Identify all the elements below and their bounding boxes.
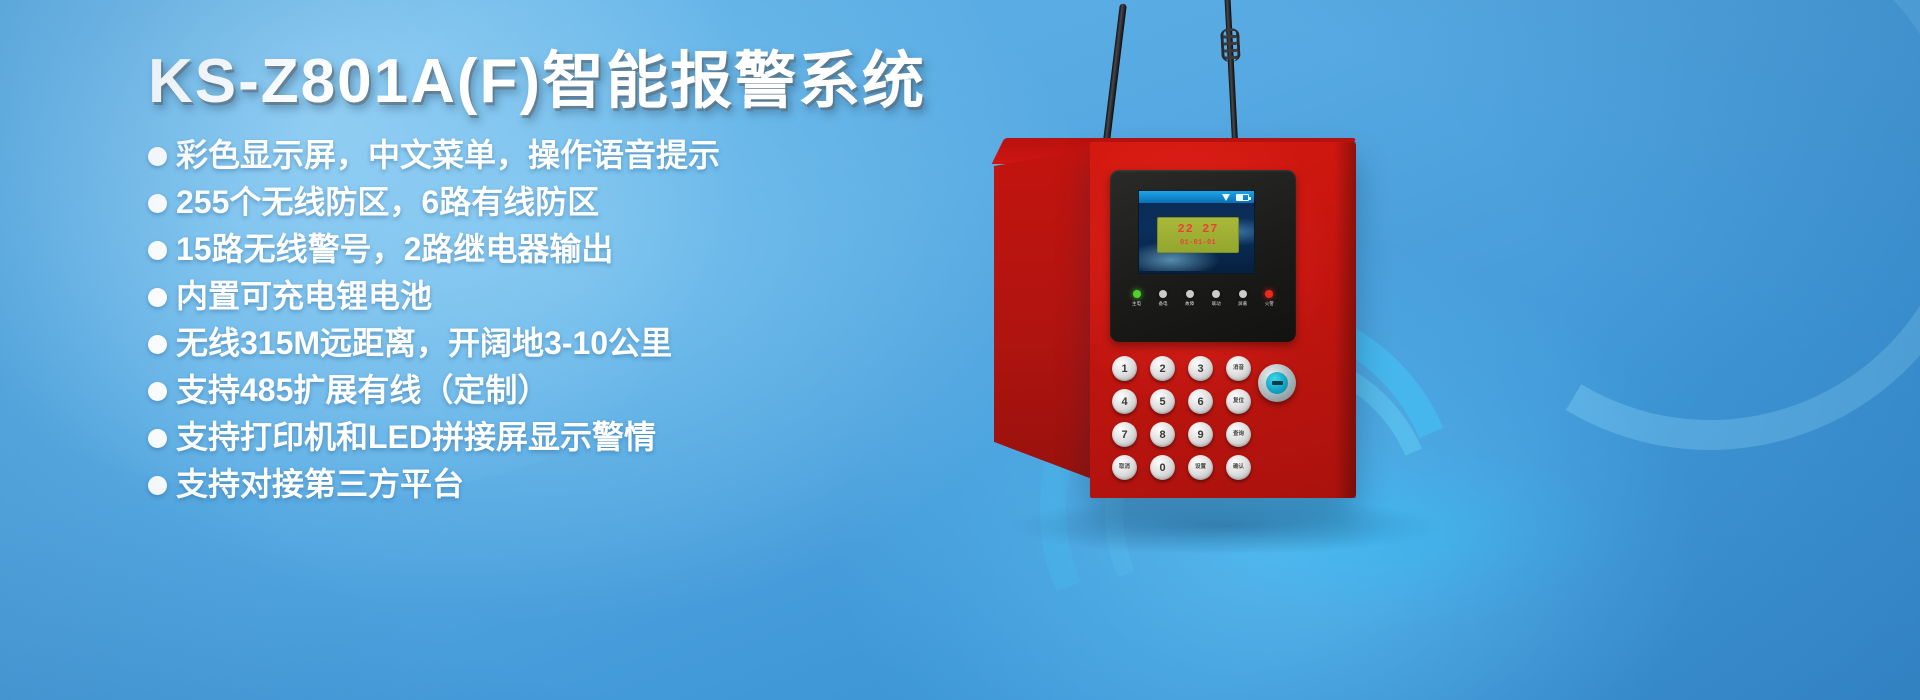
control-faceplate: 22 27 01-01-01 主电 备电 故障 [1110,170,1296,342]
list-item: 15路无线警号，2路继电器输出 [148,233,968,265]
feature-text: 支持对接第三方平台 [176,468,464,500]
bullet-icon [148,241,167,260]
key-6[interactable]: 6 [1188,389,1213,414]
lcd-date: 01-01-01 [1180,239,1216,247]
bullet-icon [148,429,167,448]
key-lock-icon[interactable] [1258,364,1296,402]
feature-text: 255个无线防区，6路有线防区 [176,186,599,218]
key-2[interactable]: 2 [1150,356,1175,381]
feature-text: 无线315M远距离，开阔地3-10公里 [176,327,672,359]
led-label: 屏蔽 [1238,301,1247,307]
lock-cylinder [1266,372,1288,394]
status-led-shield: 屏蔽 [1238,290,1247,307]
list-item: 255个无线防区，6路有线防区 [148,186,968,218]
key-reset[interactable]: 复位 [1226,389,1251,414]
key-4[interactable]: 4 [1112,389,1137,414]
list-item: 内置可充电锂电池 [148,280,968,312]
feature-text: 内置可充电锂电池 [176,280,432,312]
status-led-backup-power: 备电 [1159,290,1168,307]
led-indicator-icon [1133,290,1141,298]
feature-text: 支持打印机和LED拼接屏显示警情 [176,421,656,453]
led-indicator-icon [1159,290,1167,298]
bullet-icon [148,335,167,354]
led-label: 故障 [1185,301,1194,307]
feature-list: 彩色显示屏，中文菜单，操作语音提示 255个无线防区，6路有线防区 15路无线警… [148,139,968,500]
key-1[interactable]: 1 [1112,356,1137,381]
key-setting[interactable]: 设置 [1188,455,1213,480]
copy-column: KS-Z801A(F)智能报警系统 彩色显示屏，中文菜单，操作语音提示 255个… [148,46,968,515]
list-item: 支持打印机和LED拼接屏显示警情 [148,421,968,453]
product-banner: KS-Z801A(F)智能报警系统 彩色显示屏，中文菜单，操作语音提示 255个… [0,0,1920,700]
list-item: 支持对接第三方平台 [148,468,968,500]
lcd-info-panel: 22 27 01-01-01 [1157,217,1239,253]
led-label: 主电 [1132,301,1141,307]
status-led-linkage: 联动 [1212,290,1221,307]
led-indicator-icon [1265,290,1273,298]
lcd-display: 22 27 01-01-01 [1138,190,1255,274]
status-led-main-power: 主电 [1132,290,1141,307]
feature-text: 彩色显示屏，中文菜单，操作语音提示 [176,139,720,171]
key-query[interactable]: 查询 [1226,422,1251,447]
status-led-fire-alarm: 火警 [1265,290,1274,307]
enclosure-side [994,148,1100,482]
led-label: 联动 [1212,301,1221,307]
key-3[interactable]: 3 [1188,356,1213,381]
bullet-icon [148,194,167,213]
led-label: 备电 [1159,301,1168,307]
key-9[interactable]: 9 [1188,422,1213,447]
list-item: 无线315M远距离，开阔地3-10公里 [148,327,968,359]
key-7[interactable]: 7 [1112,422,1137,447]
page-title: KS-Z801A(F)智能报警系统 [148,46,968,117]
lcd-status-bar [1139,191,1254,203]
status-led-fault: 故障 [1185,290,1194,307]
key-cancel[interactable]: 取消 [1112,455,1137,480]
lcd-clock: 22 27 [1177,223,1218,235]
feature-text: 支持485扩展有线（定制） [176,374,549,406]
key-mute[interactable]: 消音 [1226,356,1251,381]
led-indicator-icon [1212,290,1220,298]
key-5[interactable]: 5 [1150,389,1175,414]
list-item: 彩色显示屏，中文菜单，操作语音提示 [148,139,968,171]
bullet-icon [148,476,167,495]
lock-slot [1272,381,1283,385]
key-8[interactable]: 8 [1150,422,1175,447]
bullet-icon [148,147,167,166]
signal-icon [1222,194,1230,201]
keypad[interactable]: 1 2 3 消音 4 5 6 复位 7 8 9 查询 取消 0 设置 确认 [1112,356,1251,480]
status-led-row: 主电 备电 故障 联动 屏蔽 [1132,290,1274,307]
list-item: 支持485扩展有线（定制） [148,374,968,406]
key-confirm[interactable]: 确认 [1226,455,1251,480]
feature-text: 15路无线警号，2路继电器输出 [176,233,613,265]
antenna-coil [1220,28,1241,63]
led-label: 火警 [1265,301,1274,307]
battery-icon [1236,194,1249,201]
bullet-icon [148,288,167,307]
led-indicator-icon [1239,290,1247,298]
key-0[interactable]: 0 [1150,455,1175,480]
bullet-icon [148,382,167,401]
led-indicator-icon [1186,290,1194,298]
alarm-panel-device: 22 27 01-01-01 主电 备电 故障 [940,0,1500,552]
